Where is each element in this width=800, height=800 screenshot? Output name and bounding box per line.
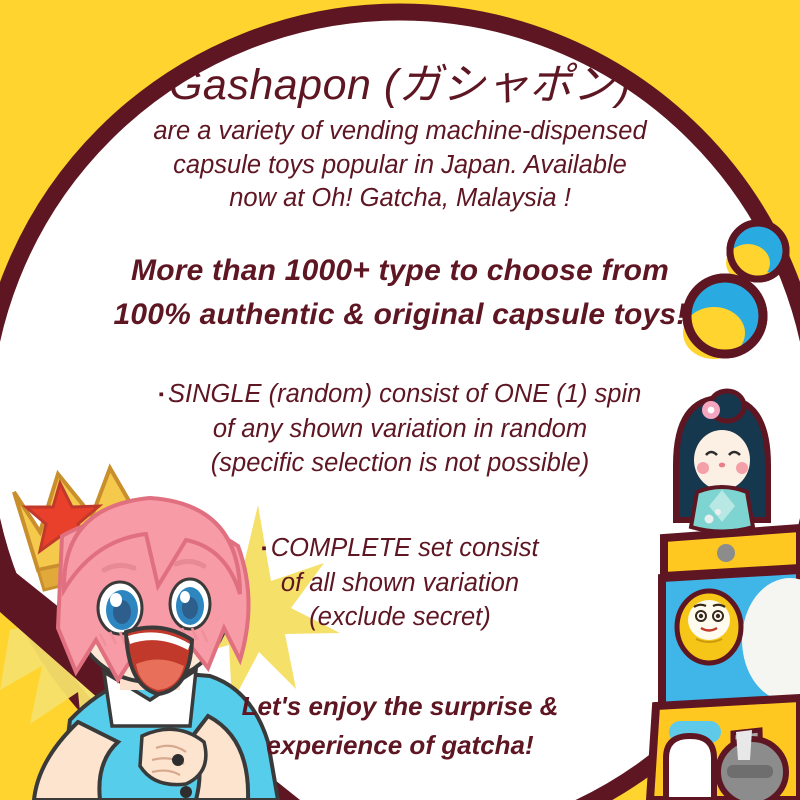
complete-option-line-2: of all shown variation [0,567,800,600]
page-title: Gashapon (ガシャポン) [0,58,800,113]
bullet-icon: ▪ [159,386,164,403]
single-option-line-2: of any shown variation in random [0,413,800,446]
single-option-line-3: (specific selection is not possible) [0,447,800,480]
complete-option-text-1: COMPLETE set consist [271,534,539,562]
gashapon-promo-poster: Gashapon (ガシャポン) are a variety of vendin… [0,0,800,800]
single-option-block: ▪SINGLE (random) consist of ONE (1) spin… [0,378,800,482]
headline-block: More than 1000+ type to choose from 100%… [0,252,800,341]
closing-line-2: experience of gatcha! [0,729,800,762]
complete-option-block: ▪COMPLETE set consist of all shown varia… [0,532,800,636]
intro-line-2: capsule toys popular in Japan. Available [0,149,800,182]
complete-option-line-3: (exclude secret) [0,601,800,634]
poster-text-content: Gashapon (ガシャポン) are a variety of vendin… [0,0,800,800]
complete-option-line-1: ▪COMPLETE set consist [0,532,800,565]
intro-paragraph: are a variety of vending machine-dispens… [0,115,800,216]
closing-block: Let's enjoy the surprise & experience of… [0,690,800,769]
intro-line-3: now at Oh! Gatcha, Malaysia ! [0,182,800,215]
bullet-icon: ▪ [261,540,266,557]
headline-line-2: 100% authentic & original capsule toys! [0,296,800,334]
single-option-line-1: ▪SINGLE (random) consist of ONE (1) spin [0,378,800,411]
closing-line-1: Let's enjoy the surprise & [0,690,800,723]
intro-line-1: are a variety of vending machine-dispens… [0,115,800,148]
single-option-text-1: SINGLE (random) consist of ONE (1) spin [168,380,641,408]
headline-line-1: More than 1000+ type to choose from [0,252,800,290]
